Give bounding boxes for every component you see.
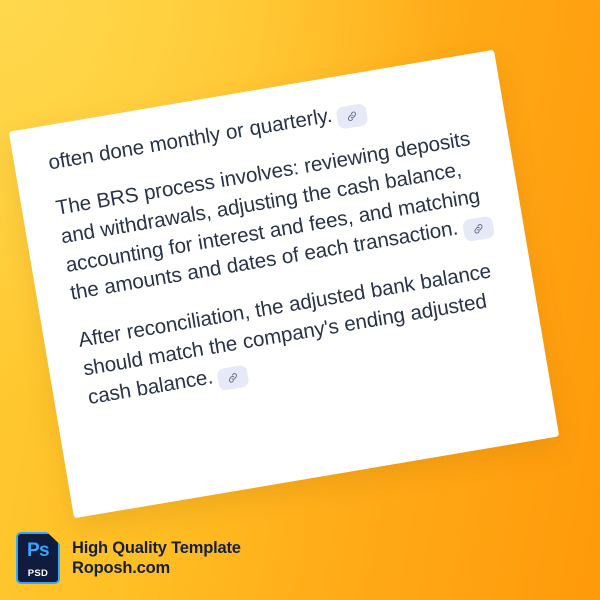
note-card: often done monthly or quarterly. The BRS… — [9, 50, 559, 519]
photoshop-psd-file-icon: Ps PSD — [16, 532, 60, 584]
note-card-body: often done monthly or quarterly. The BRS… — [46, 78, 517, 413]
psd-badge-format: PSD — [16, 569, 60, 579]
link-icon[interactable] — [462, 216, 495, 243]
footer-branding: Ps PSD High Quality Template Roposh.com — [16, 532, 241, 584]
footer-text-block: High Quality Template Roposh.com — [72, 538, 241, 579]
link-icon[interactable] — [216, 365, 249, 392]
link-icon[interactable] — [336, 103, 369, 130]
psd-badge-abbreviation: Ps — [16, 541, 60, 560]
rotated-note-card-wrapper: often done monthly or quarterly. The BRS… — [9, 50, 559, 519]
screenshot-stage: often done monthly or quarterly. The BRS… — [0, 0, 600, 600]
footer-title: High Quality Template — [72, 538, 241, 558]
footer-subtitle: Roposh.com — [72, 558, 241, 578]
